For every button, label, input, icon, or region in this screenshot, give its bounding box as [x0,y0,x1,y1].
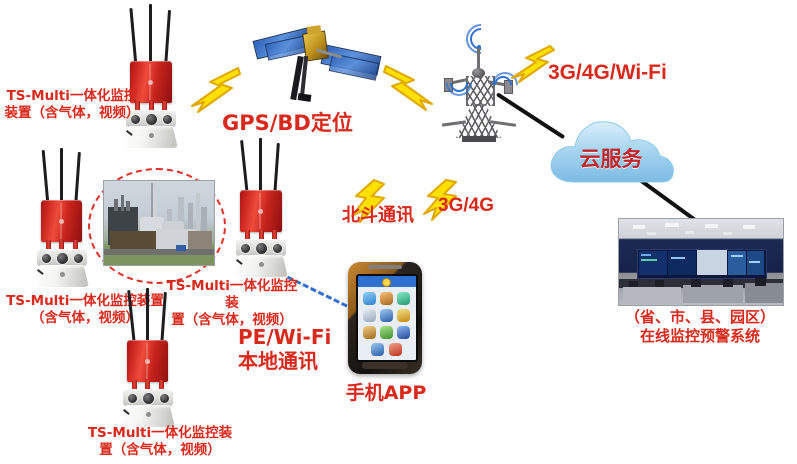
cell-tower-icon [432,18,524,150]
satellite-icon [252,8,380,104]
monitoring-device-icon-bottom-left [104,288,190,428]
link-local-label: PE/Wi-Fi 本地通讯 [238,326,356,373]
device-bottom-left-label: TS-Multi一体化监控装 置（含气体，视频） [62,425,258,459]
monitoring-device-icon-mid-center [218,138,304,278]
link-gps-label: GPS/BD定位 [222,110,362,136]
link-3g4g-label: 3G/4G [438,194,528,218]
cloud-label: 云服务 [561,143,661,173]
monitoring-device-icon-mid-left [18,148,104,288]
link-3g4g-wifi-label: 3G/4G/Wi-Fi [548,60,728,86]
mobile-app-label: 手机APP [330,382,442,406]
control-center-label: （省、市、县、园区） 在线监控预警系统 [600,308,797,346]
handheld-terminal-icon [348,262,422,374]
lightning-bolt-icon-gps-left [188,66,244,114]
link-beidou-label: 北斗通讯 [342,205,442,228]
monitoring-device-icon-top-left [108,4,194,148]
diagram-canvas: 云服务 [0,0,797,464]
lightning-bolt-icon-gps-right [380,64,436,112]
device-top-left-label: TS-Multi一体化监控 装置（含气体，视频） [2,88,142,122]
industrial-plant-photo [103,180,215,266]
control-room-photo [618,218,784,306]
